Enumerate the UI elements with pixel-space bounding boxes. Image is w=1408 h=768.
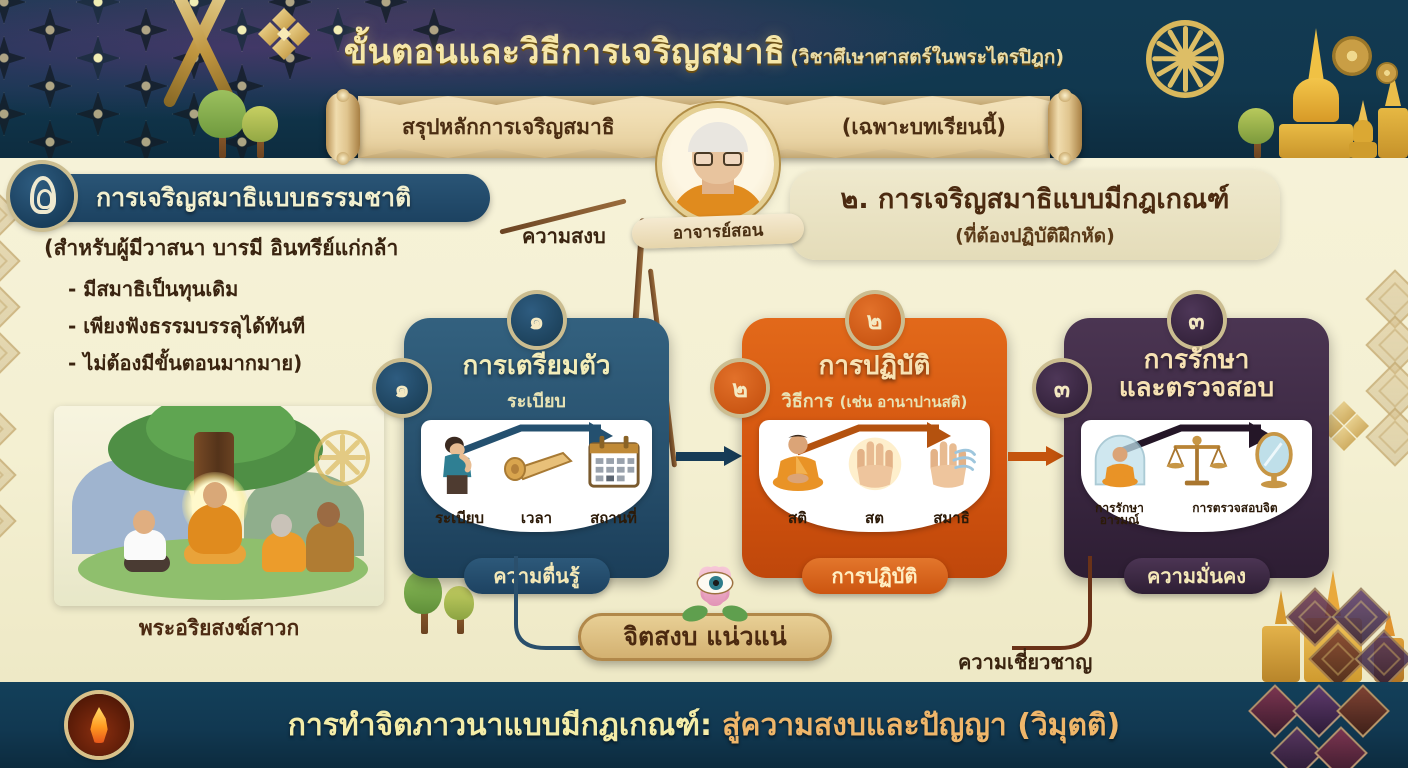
title-main-text: ขั้นตอนและวิธีการเจริญสมาธิ — [344, 32, 785, 72]
natural-meditation-header: การเจริญสมาธิแบบธรรมชาติ — [32, 174, 490, 222]
rule-section-subtitle: (ที่ต้องปฏิบัติฝึกหัด) — [802, 221, 1268, 251]
footer-text: การทำจิตภาวนาแบบมีกฎเกณฑ์: สู่ความสงบและ… — [0, 682, 1408, 768]
corner-pattern-bottom-right — [1238, 682, 1408, 768]
glasses-icon — [694, 152, 742, 166]
palm-with-breath-icon — [913, 428, 990, 494]
scroll-left-text: สรุปหลักการเจริญสมาธิ — [402, 111, 615, 144]
corner-pattern-left-lower — [0, 408, 36, 548]
pagoda-icon — [1378, 72, 1408, 158]
step-icon-labels: ระเบียบ เวลา สถานที่ — [421, 511, 652, 526]
icon-label: การตรวจสอบจิต — [1158, 502, 1312, 526]
icon-label: เวลา — [498, 511, 575, 526]
footer-text-part2: สู่ความสงบและปัญญา (วิมุตติ) — [722, 702, 1120, 749]
step-card-3[interactable]: ๓ ๓ การรักษา และตรวจสอบ — [1064, 318, 1329, 578]
scroll-roll-left — [326, 92, 360, 162]
list-item: - มีสมาธิเป็นทุนเดิม — [68, 273, 484, 305]
icon-label: สถานที่ — [575, 511, 652, 526]
scroll-right-text: (เฉพาะบทเรียนนี้) — [842, 111, 1006, 144]
arrow-step2-to-step3 — [1008, 446, 1064, 466]
mirror-icon — [1235, 428, 1312, 494]
step-number-badge-top: ๒ — [849, 294, 901, 346]
rolled-mat-icon — [498, 428, 575, 494]
step-card-1[interactable]: ๑ ๑ การเตรียมตัว ระเบียบ — [404, 318, 669, 578]
icon-label: สต — [836, 511, 913, 526]
ear-icon — [10, 164, 74, 228]
monk-teaching-under-tree-icon — [54, 406, 384, 606]
calendar-icon — [575, 428, 652, 494]
teacher-name-label: อาจารย์สอน — [632, 213, 805, 249]
step-title-line1: การรักษา — [1064, 346, 1329, 374]
bowing-person-icon — [421, 428, 498, 494]
icon-label: สติ — [759, 511, 836, 526]
icon-label: การรักษา อารมณ์ — [1081, 502, 1158, 526]
step-title: การเตรียมตัว — [404, 352, 669, 380]
rule-section-title: ๒. การเจริญสมาธิแบบมีกฎเกณฑ์ — [802, 177, 1268, 220]
meditating-monk-icon — [759, 428, 836, 494]
arrow-step1-to-step2 — [676, 446, 742, 466]
icon-label: สมาธิ — [913, 511, 990, 526]
corner-pattern-bottom-right — [1282, 582, 1408, 682]
step-icon-labels: การรักษา อารมณ์ การตรวจสอบจิต — [1081, 502, 1312, 526]
footer-text-part1: การทำจิตภาวนาแบบมีกฎเกณฑ์: — [288, 702, 712, 749]
step-number-badge-top: ๑ — [511, 294, 563, 346]
dharma-wheel-icon — [314, 430, 370, 486]
bottom-banner: การทำจิตภาวนาแบบมีกฎเกณฑ์: สู่ความสงบและ… — [0, 682, 1408, 768]
step-icon-labels: สติ สต สมาธิ — [759, 511, 990, 526]
icon-label: ระเบียบ — [421, 511, 498, 526]
step-icon-panel: การรักษา อารมณ์ การตรวจสอบจิต — [1081, 420, 1312, 532]
step-subtitle: วิธีการ (เช่น อานาปานสติ) — [742, 386, 1007, 415]
step-subtitle-main: วิธีการ — [782, 391, 834, 412]
lotus-medallion-icon — [1332, 36, 1372, 76]
step-icon-panel: สติ สต สมาธิ — [759, 420, 990, 532]
step-number-badge-top: ๓ — [1171, 294, 1223, 346]
natural-lead-text: (สำหรับผู้มีวาสนา บารมี อินทรีย์แก่กล้า — [44, 232, 484, 265]
scroll-roll-right — [1048, 92, 1082, 162]
balance-scale-icon — [1158, 428, 1235, 494]
scene-caption: พระอริยสงฆ์สาวก — [54, 612, 384, 645]
lotus-eye-icon — [684, 561, 746, 623]
monk-under-glass-dome-icon — [1081, 428, 1158, 494]
step-title-line2: และตรวจสอบ — [1064, 374, 1329, 402]
open-palm-icon — [836, 428, 913, 494]
tree-icon — [1238, 104, 1276, 158]
step-subtitle-extra: (เช่น อานาปานสติ) — [840, 393, 968, 411]
star-ornament-icon — [1376, 62, 1398, 84]
rule-section-header: ๒. การเจริญสมาธิแบบมีกฎเกณฑ์ (ที่ต้องปฏิ… — [790, 170, 1280, 260]
step-icon-panel: ระเบียบ เวลา สถานที่ — [421, 420, 652, 532]
mastery-label: ความเชี่ยวชาญ — [958, 646, 1092, 678]
teacher-portrait-icon — [662, 108, 774, 220]
tree-icon — [240, 102, 280, 158]
title-sub-text: (วิชาศึเษาศาสตร์ในพระไตรปิฎก) — [790, 46, 1064, 68]
step-title: การปฏิบัติ — [742, 352, 1007, 380]
step-subtitle: ระเบียบ — [404, 386, 669, 415]
infographic-root: ขั้นตอนและวิธีการเจริญสมาธิ (วิชาศึเษาศา… — [0, 0, 1408, 768]
dharma-wheel-icon — [1146, 20, 1224, 98]
natural-heading-text: การเจริญสมาธิแบบธรรมชาติ — [96, 178, 411, 218]
icon-label-line2: อารมณ์ — [1100, 513, 1139, 527]
step-title: การรักษา และตรวจสอบ — [1064, 346, 1329, 402]
pagoda-icon — [1348, 100, 1378, 158]
step-card-2[interactable]: ๒ ๒ การปฏิบัติ วิธีการ (เช่น อานาปานสติ) — [742, 318, 1007, 578]
